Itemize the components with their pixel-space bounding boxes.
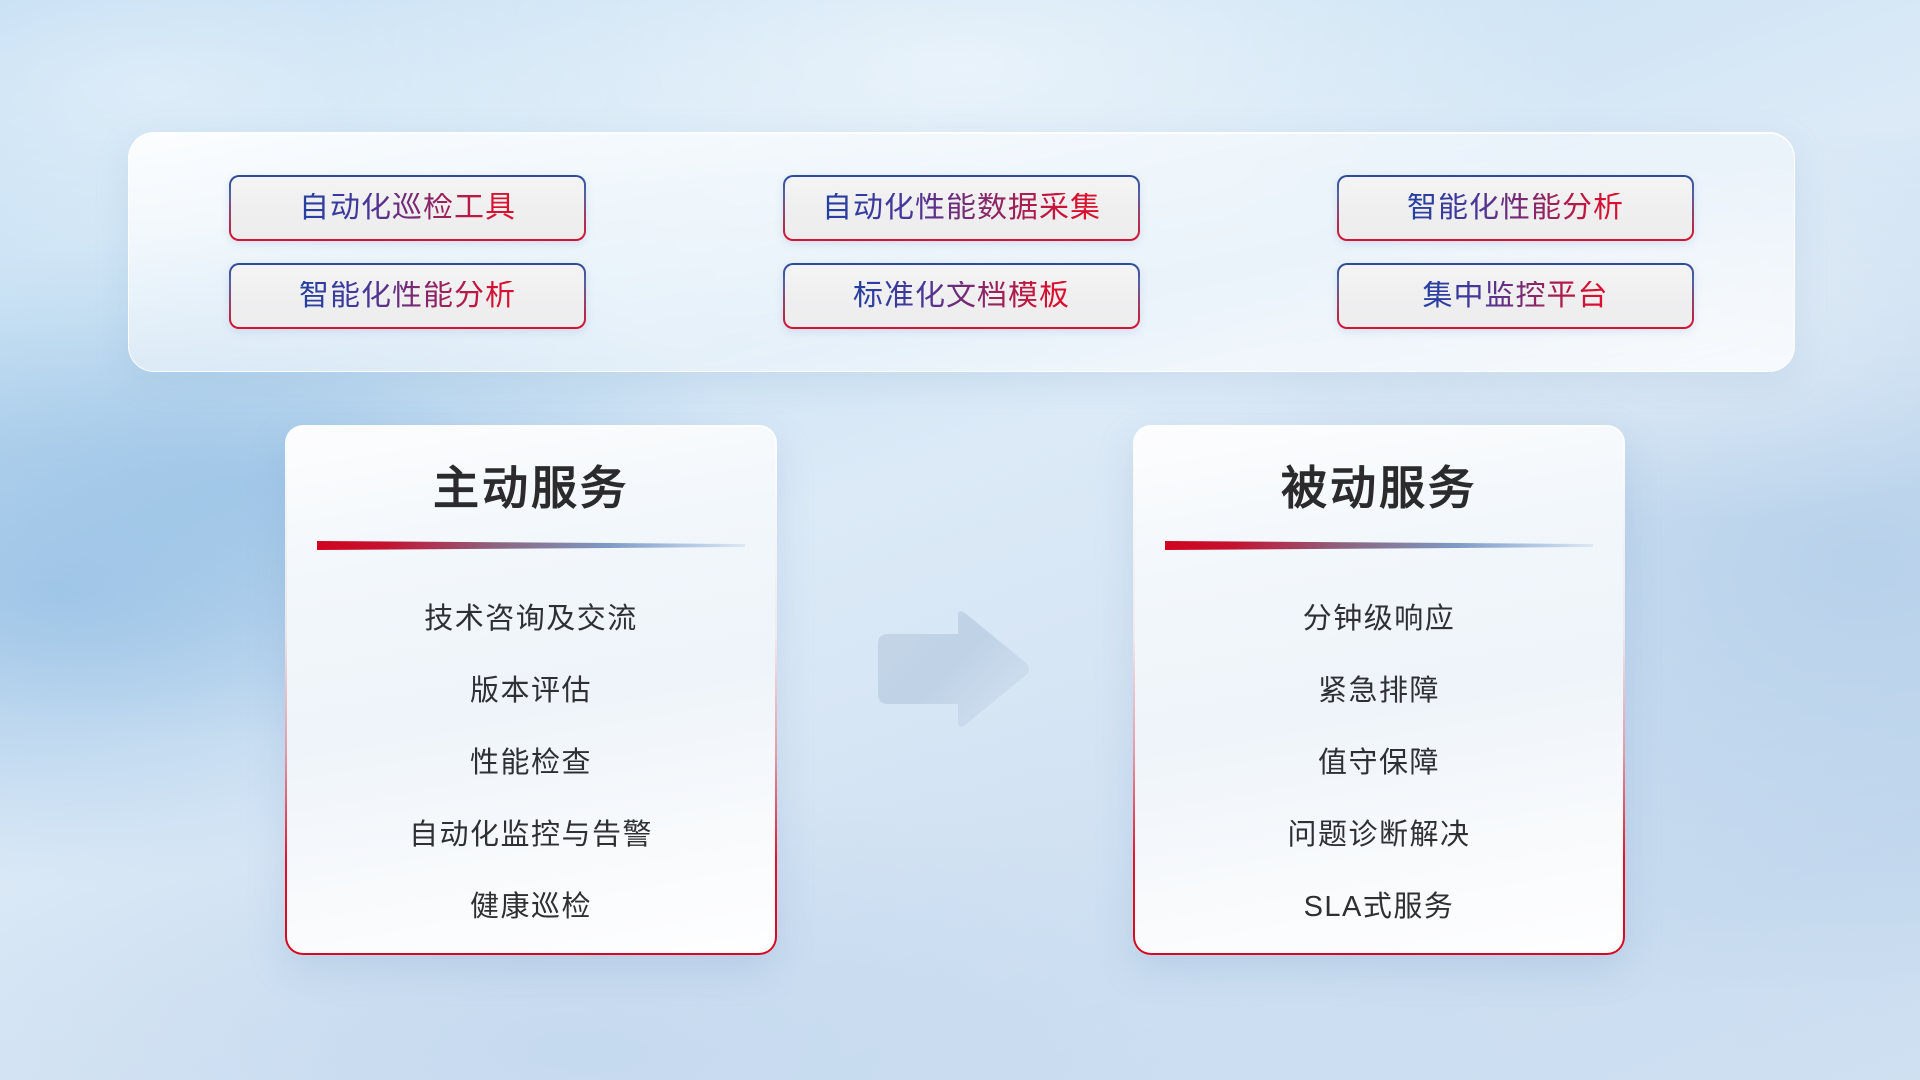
card-item-list: 分钟级响应 紧急排障 值守保障 问题诊断解决 SLA式服务 — [1135, 584, 1623, 944]
card-list-item: 问题诊断解决 — [1287, 800, 1470, 872]
card-item-list: 技术咨询及交流 版本评估 性能检查 自动化监控与告警 健康巡检 — [287, 584, 775, 944]
card-list-item: 版本评估 — [470, 656, 592, 728]
capability-pill[interactable]: 自动化性能数据采集 — [783, 175, 1140, 241]
capability-row-1: 自动化巡检工具 自动化性能数据采集 智能化性能分析 — [129, 175, 1794, 241]
capability-row-2: 智能化性能分析 标准化文档模板 集中监控平台 — [129, 263, 1794, 329]
card-divider — [317, 539, 745, 550]
card-list-item: 值守保障 — [1318, 728, 1440, 800]
card-title: 主动服务 — [433, 463, 629, 514]
capability-pill[interactable]: 集中监控平台 — [1337, 263, 1694, 329]
capability-pill-body: 智能化性能分析 — [231, 265, 584, 327]
capability-pill-label: 智能化性能分析 — [299, 281, 516, 311]
service-card-active: 主动服务 — [285, 425, 777, 955]
arrow-right-icon — [872, 608, 1032, 730]
card-list-item: 紧急排障 — [1318, 656, 1440, 728]
card-list-item: 自动化监控与告警 — [409, 800, 653, 872]
capability-pill-body: 自动化巡检工具 — [231, 177, 584, 239]
capability-pill[interactable]: 智能化性能分析 — [1337, 175, 1694, 241]
card-divider — [1165, 539, 1593, 550]
capability-pill-label: 自动化性能数据采集 — [822, 193, 1101, 223]
service-card-body: 主动服务 — [287, 427, 775, 953]
service-card-body: 被动服务 — [1135, 427, 1623, 953]
card-list-item: 分钟级响应 — [1303, 584, 1456, 656]
card-list-item: 技术咨询及交流 — [424, 584, 638, 656]
capability-pill-label: 集中监控平台 — [1423, 281, 1609, 311]
card-list-item: 健康巡检 — [470, 872, 592, 944]
capability-pill-body: 标准化文档模板 — [785, 265, 1138, 327]
card-title: 被动服务 — [1281, 463, 1477, 514]
capability-pill-body: 智能化性能分析 — [1339, 177, 1692, 239]
capability-pill-body: 集中监控平台 — [1339, 265, 1692, 327]
capability-pill[interactable]: 智能化性能分析 — [229, 263, 586, 329]
capability-pill[interactable]: 自动化巡检工具 — [229, 175, 586, 241]
capability-panel: 自动化巡检工具 自动化性能数据采集 智能化性能分析 智能化性能分析 — [128, 132, 1795, 372]
service-card-passive: 被动服务 — [1133, 425, 1625, 955]
capability-pill-label: 自动化巡检工具 — [299, 193, 516, 223]
capability-pill[interactable]: 标准化文档模板 — [783, 263, 1140, 329]
capability-pill-label: 智能化性能分析 — [1407, 193, 1624, 223]
capability-pill-body: 自动化性能数据采集 — [785, 177, 1138, 239]
diagram-stage: 自动化巡检工具 自动化性能数据采集 智能化性能分析 智能化性能分析 — [0, 0, 1920, 1080]
card-list-item: 性能检查 — [470, 728, 592, 800]
card-list-item: SLA式服务 — [1304, 872, 1455, 944]
capability-pill-label: 标准化文档模板 — [853, 281, 1070, 311]
